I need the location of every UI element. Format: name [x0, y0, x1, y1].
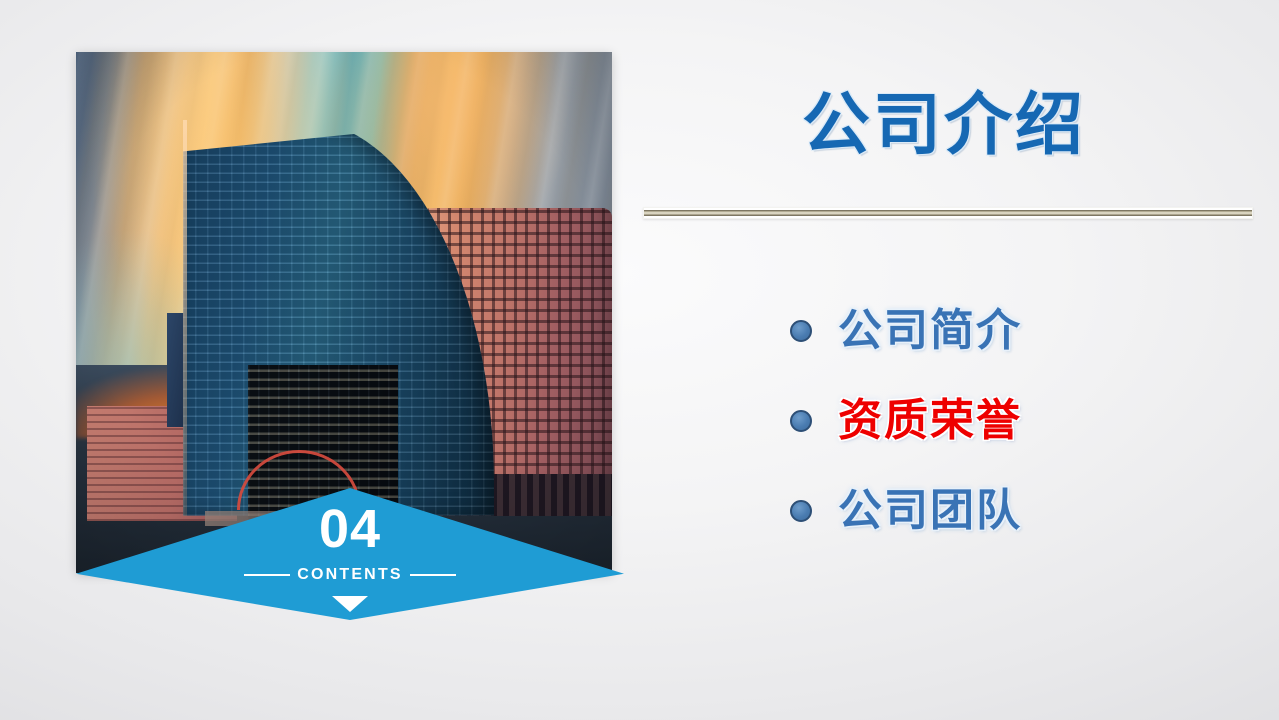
bullet-dot-icon	[790, 500, 812, 522]
title-divider	[643, 207, 1253, 219]
page-title: 公司介绍	[640, 88, 1248, 163]
agenda-item-qualifications-honors[interactable]: 资质荣誉	[790, 376, 1260, 466]
bullet-dot-icon	[790, 410, 812, 432]
agenda-item-label: 资质荣誉	[838, 399, 1022, 443]
slide-root: 04 CONTENTS 公司介绍 公司简介 资质荣誉 公司团队	[0, 0, 1279, 720]
agenda-item-company-profile[interactable]: 公司简介	[790, 286, 1260, 376]
right-column: 公司介绍 公司简介 资质荣誉 公司团队	[640, 0, 1279, 720]
agenda-list: 公司简介 资质荣誉 公司团队	[790, 286, 1260, 556]
bullet-dot-icon	[790, 320, 812, 342]
title-divider-bar	[644, 210, 1252, 216]
agenda-item-label: 公司团队	[838, 489, 1022, 533]
agenda-item-label: 公司简介	[838, 309, 1022, 353]
agenda-item-company-team[interactable]: 公司团队	[790, 466, 1260, 556]
